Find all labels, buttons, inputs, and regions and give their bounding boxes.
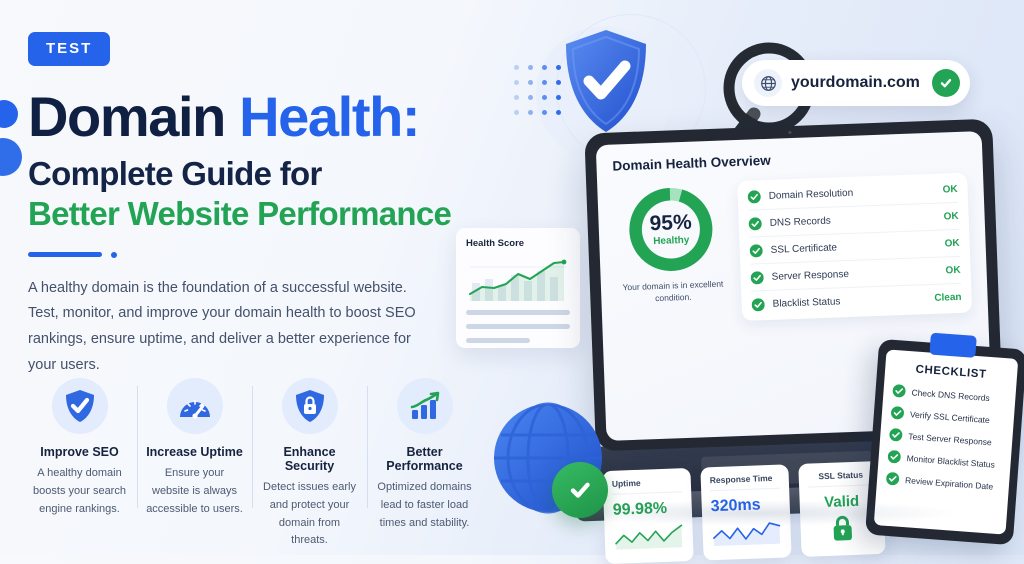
hero-infographic: TEST Domain Health: Complete Guide for B… (0, 0, 1024, 555)
checklist-item-label: Test Server Response (908, 431, 992, 447)
laptop-camera (788, 131, 791, 134)
check-circle-icon (750, 271, 763, 284)
list-item: Review Expiration Date (886, 472, 1001, 493)
check-circle-icon (889, 428, 903, 442)
check-name: Server Response (771, 265, 937, 282)
hero-paragraph: A healthy domain is the foundation of a … (28, 276, 428, 379)
checklist-item-label: Review Expiration Date (905, 475, 994, 491)
checklist-item-label: Monitor Blacklist Status (906, 453, 995, 469)
health-score-chart (466, 257, 570, 301)
check-name: Blacklist Status (772, 293, 926, 310)
subtitle-line-1: Complete Guide for (28, 155, 498, 193)
check-value: OK (943, 210, 958, 222)
feature-title: Enhance Security (260, 445, 359, 473)
page-title: Domain Health: (28, 88, 498, 145)
metric-title: SSL Status (808, 469, 875, 487)
check-value: OK (942, 183, 957, 195)
checklist-item-label: Verify SSL Certificate (910, 409, 991, 425)
checklist-title: CHECKLIST (894, 362, 1009, 382)
hero-text-block: TEST Domain Health: Complete Guide for B… (28, 32, 498, 379)
feature-desc: Ensure your website is always accessible… (145, 465, 244, 518)
domain-value: yourdomain.com (791, 74, 923, 92)
check-value: Clean (934, 291, 962, 303)
feature-item-enhance-security: Enhance Security Detect issues early and… (252, 378, 367, 550)
check-circle-icon (886, 472, 900, 486)
feature-desc: Optimized domains lead to faster load ti… (375, 479, 474, 532)
check-circle-icon (748, 217, 761, 230)
check-circle-icon (749, 244, 762, 257)
growth-chart-icon (397, 378, 453, 434)
check-circle-icon (751, 298, 764, 311)
list-item: Verify SSL Certificate (891, 406, 1006, 427)
check-circle-icon (932, 69, 960, 97)
check-circle-icon (892, 384, 906, 398)
placeholder-line (466, 324, 570, 329)
status-check-list: Domain Resolution OK DNS Records OK (737, 173, 972, 321)
metric-title: Response Time (710, 473, 781, 492)
metric-title: Uptime (612, 476, 683, 495)
check-name: DNS Records (770, 211, 936, 228)
feature-desc: Detect issues early and protect your dom… (260, 479, 359, 550)
placeholder-line (466, 310, 570, 315)
speedometer-icon (167, 378, 223, 434)
dashboard-title: Domain Health Overview (612, 146, 966, 174)
feature-list: Improve SEO A healthy domain boosts your… (22, 378, 484, 550)
health-score-title: Health Score (466, 238, 570, 249)
placeholder-line (466, 338, 530, 343)
check-value: OK (945, 264, 960, 276)
check-circle-icon (747, 190, 760, 203)
health-score-card: Health Score (456, 228, 580, 348)
shield-check-icon (52, 378, 108, 434)
feature-title: Better Performance (375, 445, 474, 473)
feature-item-better-performance: Better Performance Optimized domains lea… (367, 378, 482, 550)
list-item: Check DNS Records (892, 384, 1007, 405)
shield-lock-icon (282, 378, 338, 434)
shield-check-3d-icon (562, 28, 650, 134)
divider-dot (111, 252, 117, 258)
check-name: Domain Resolution (769, 184, 935, 201)
clipboard-clip (929, 333, 976, 358)
list-item: Test Server Response (889, 428, 1004, 449)
list-item: Monitor Blacklist Status (887, 450, 1002, 471)
gauge-note: Your domain is in excellent condition. (617, 278, 730, 306)
blue-dot-decor-large (0, 100, 18, 128)
feature-item-improve-seo: Improve SEO A healthy domain boosts your… (22, 378, 137, 550)
test-badge: TEST (28, 32, 110, 66)
feature-desc: A healthy domain boosts your search engi… (30, 465, 129, 518)
feature-item-increase-uptime: Increase Uptime Ensure your website is a… (137, 378, 252, 550)
subtitle-line-2: Better Website Performance (28, 195, 498, 233)
domain-search-bar[interactable]: yourdomain.com (742, 60, 970, 106)
title-part-accent: Health: (239, 85, 419, 148)
health-gauge-block: 95% Healthy Your domain is in excellent … (613, 181, 730, 325)
check-value: OK (944, 237, 959, 249)
feature-title: Improve SEO (30, 445, 129, 459)
divider-bar (28, 252, 102, 257)
gauge-label: Healthy (653, 235, 690, 247)
globe-icon (754, 69, 782, 97)
checklist-item-label: Check DNS Records (911, 387, 990, 403)
floor-shadow (560, 500, 960, 526)
accent-divider (28, 252, 498, 258)
check-circle-icon (891, 406, 905, 420)
health-gauge: 95% Healthy (627, 186, 714, 273)
feature-title: Increase Uptime (145, 445, 244, 459)
gauge-percent: 95% (649, 212, 692, 235)
check-circle-icon (887, 450, 901, 464)
check-name: SSL Certificate (770, 238, 936, 255)
title-part-dark: Domain (28, 85, 225, 148)
blue-dot-decor-small (0, 138, 22, 176)
